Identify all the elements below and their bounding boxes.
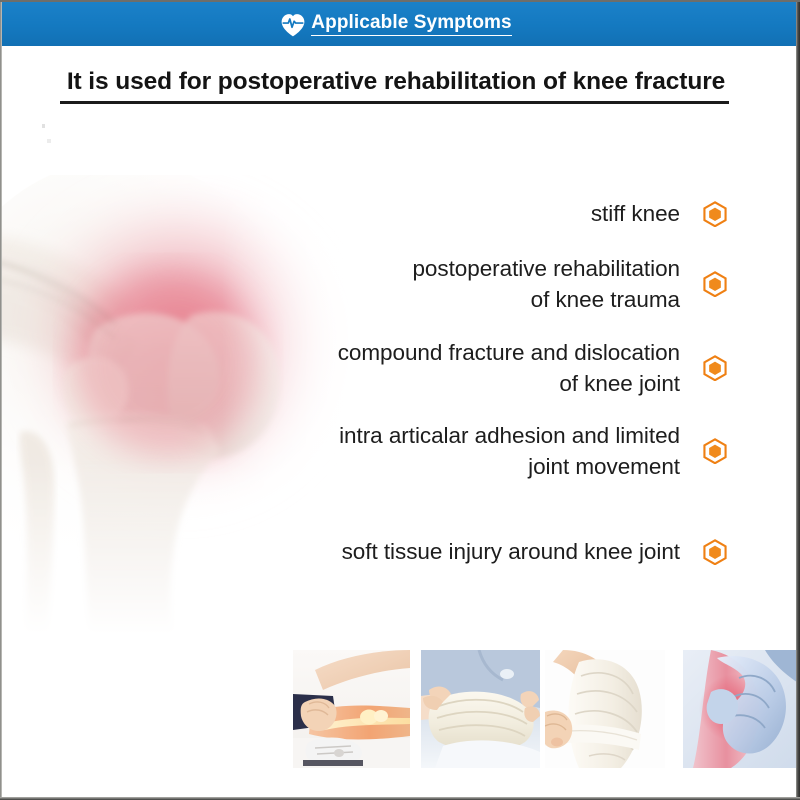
list-item[interactable]: intra articalar adhesion and limited joi… xyxy=(300,420,728,482)
orange-hexagon-icon xyxy=(702,438,728,464)
window-border-left xyxy=(0,0,2,800)
thumbnail-strip xyxy=(293,650,800,768)
list-item[interactable]: soft tissue injury around knee joint xyxy=(300,536,728,567)
page-title: It is used for postoperative rehabilitat… xyxy=(60,68,732,96)
window-border-right xyxy=(796,0,800,800)
header-title: Applicable Symptoms xyxy=(311,12,511,36)
heart-pulse-icon xyxy=(280,12,306,38)
thumbnail-gloved-hand-knee-pain[interactable] xyxy=(683,650,800,768)
symptom-label: soft tissue injury around knee joint xyxy=(300,536,680,567)
window-border-top xyxy=(0,0,800,2)
symptom-label: stiff knee xyxy=(300,198,680,229)
page-title-underline xyxy=(60,101,729,104)
symptom-label: compound fracture and dislocation of kne… xyxy=(300,337,680,399)
list-item[interactable]: compound fracture and dislocation of kne… xyxy=(300,337,728,399)
slide-page: Applicable Symptoms It is used for posto… xyxy=(0,0,800,800)
orange-hexagon-icon xyxy=(702,539,728,565)
thumbnail-knee-bandage-wrap[interactable] xyxy=(421,650,540,768)
list-item[interactable]: stiff knee xyxy=(300,198,728,229)
header-bar: Applicable Symptoms xyxy=(0,2,800,46)
thumbnail-knee-bone-pain-exam[interactable] xyxy=(293,650,410,768)
thumbnail-knee-bandaging-hands[interactable] xyxy=(545,650,665,768)
symptom-label: intra articalar adhesion and limited joi… xyxy=(300,420,680,482)
scan-artifact xyxy=(42,124,45,128)
symptom-label: postoperative rehabilitation of knee tra… xyxy=(300,253,680,315)
scan-artifact xyxy=(47,139,51,143)
orange-hexagon-icon xyxy=(702,201,728,227)
header-content: Applicable Symptoms xyxy=(280,10,511,38)
orange-hexagon-icon xyxy=(702,355,728,381)
list-item[interactable]: postoperative rehabilitation of knee tra… xyxy=(300,253,728,315)
orange-hexagon-icon xyxy=(702,271,728,297)
